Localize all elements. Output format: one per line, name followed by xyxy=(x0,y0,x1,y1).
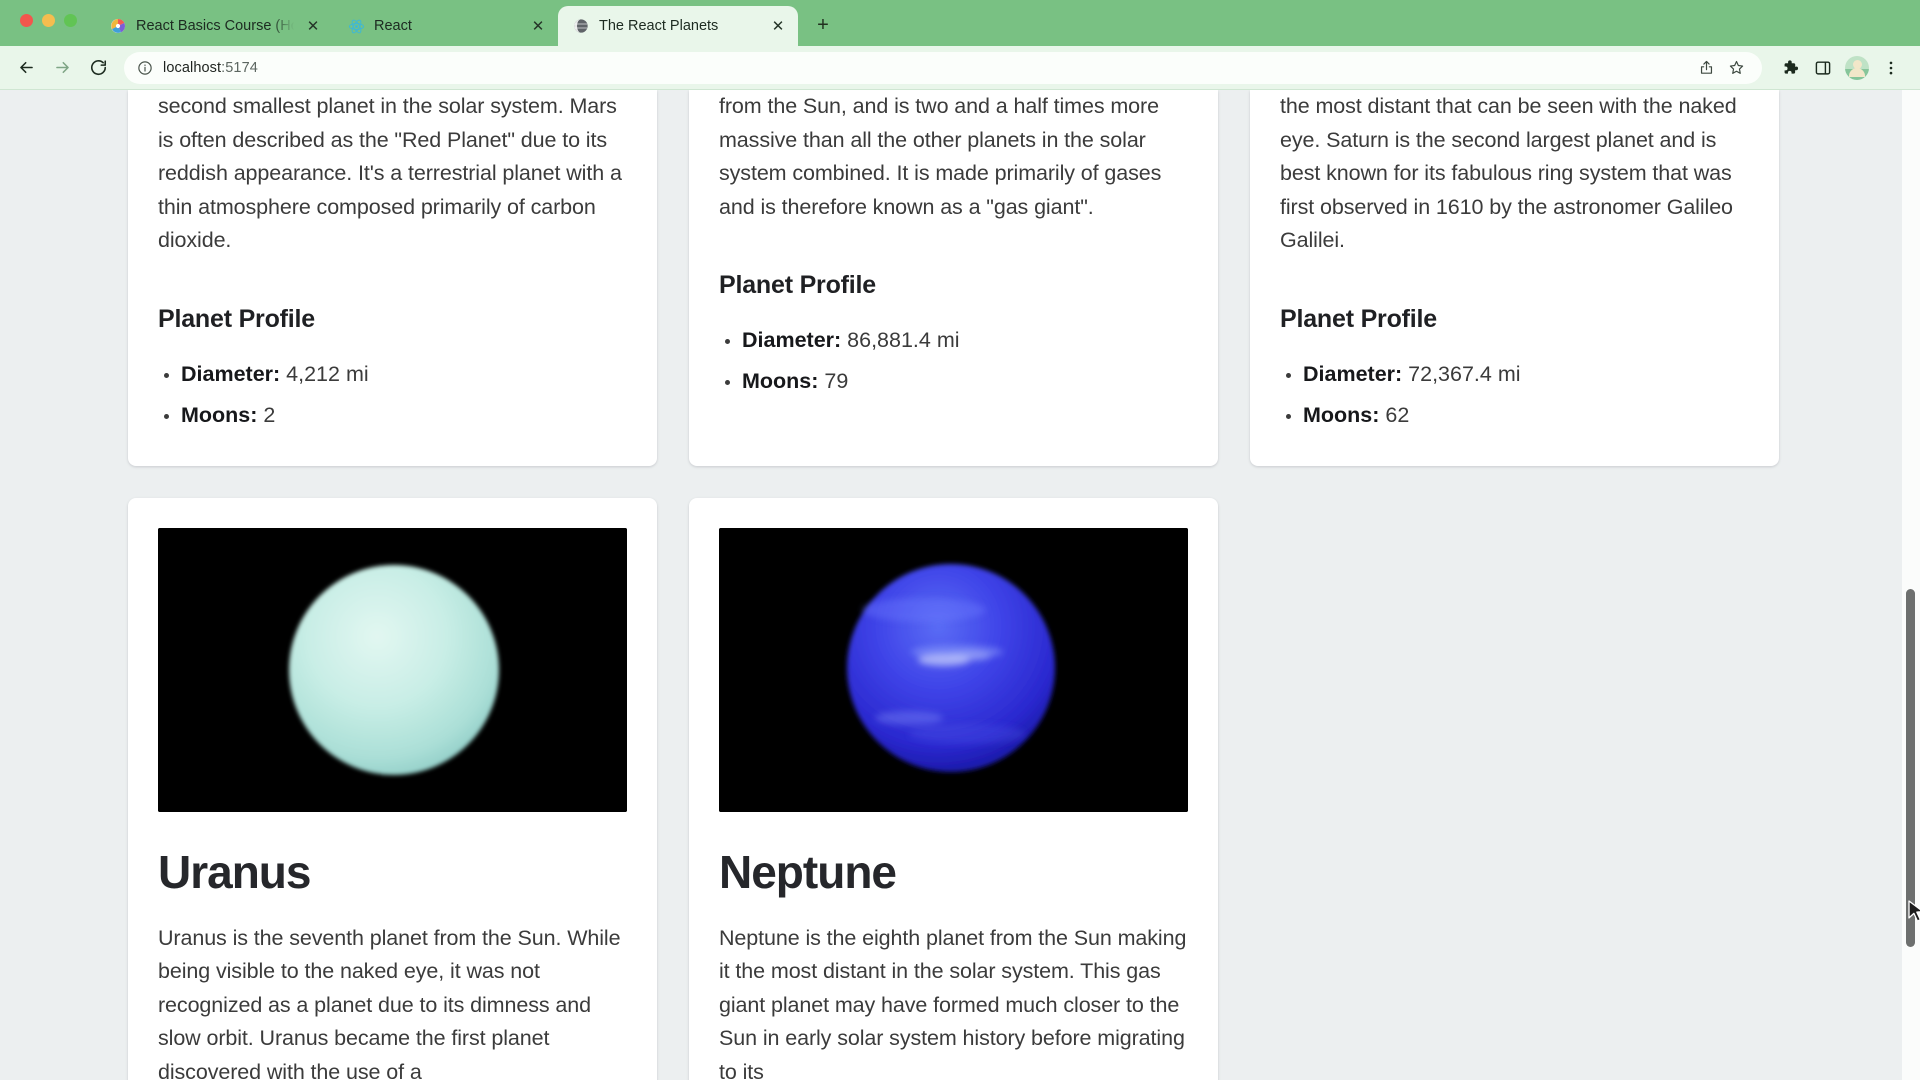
globe-icon xyxy=(572,17,590,35)
share-icon[interactable] xyxy=(1692,54,1720,82)
planet-facts: Diameter: 86,881.4 mi Moons: 79 xyxy=(719,320,1188,402)
window-controls xyxy=(20,14,77,27)
new-tab-button[interactable]: + xyxy=(808,10,838,40)
planet-card-uranus[interactable]: Uranus Uranus is the seventh planet from… xyxy=(128,498,657,1080)
fact-moons: Moons: 79 xyxy=(719,361,1188,402)
planet-profile-heading: Planet Profile xyxy=(719,271,1188,300)
planet-title: Uranus xyxy=(158,845,627,899)
fact-label: Diameter: xyxy=(742,328,841,352)
close-tab-button[interactable]: ✕ xyxy=(768,16,788,36)
browser-toolbar: localhost:5174 xyxy=(0,46,1920,90)
avatar xyxy=(1845,56,1869,80)
planet-card-mars[interactable]: second smallest planet in the solar syst… xyxy=(128,90,657,466)
fact-moons: Moons: 62 xyxy=(1280,395,1749,436)
fact-label: Moons: xyxy=(181,403,257,427)
extensions-puzzle-icon[interactable] xyxy=(1774,53,1804,83)
fact-value: 86,881.4 mi xyxy=(847,328,959,352)
react-course-icon xyxy=(109,17,127,35)
planet-description: the most distant that can be seen with t… xyxy=(1280,90,1749,258)
fact-value: 2 xyxy=(263,403,275,427)
tab-title: React xyxy=(374,18,519,34)
fact-label: Diameter: xyxy=(1303,362,1402,386)
fact-value: 4,212 mi xyxy=(286,362,368,386)
fact-diameter: Diameter: 4,212 mi xyxy=(158,354,627,395)
tab-strip: React Basics Course (How To) ✕ React ✕ xyxy=(0,0,1920,46)
planet-title: Neptune xyxy=(719,845,1188,899)
page-scrollbar[interactable] xyxy=(1902,90,1920,1080)
fact-diameter: Diameter: 86,881.4 mi xyxy=(719,320,1188,361)
planet-profile-heading: Planet Profile xyxy=(158,305,627,334)
planet-profile-heading: Planet Profile xyxy=(1280,305,1749,334)
planet-description: second smallest planet in the solar syst… xyxy=(158,90,627,258)
planet-card-saturn[interactable]: the most distant that can be seen with t… xyxy=(1250,90,1779,466)
scrollbar-thumb[interactable] xyxy=(1906,589,1915,947)
close-tab-button[interactable]: ✕ xyxy=(303,16,323,36)
page-viewport: second smallest planet in the solar syst… xyxy=(0,90,1920,1080)
neptune-photo xyxy=(719,528,1188,812)
tab-title: The React Planets xyxy=(599,18,759,34)
planet-description: Neptune is the eighth planet from the Su… xyxy=(719,922,1188,1080)
omnibox-actions xyxy=(1692,54,1750,82)
react-atom-icon xyxy=(347,17,365,35)
minimize-window-button[interactable] xyxy=(42,14,55,27)
fact-moons: Moons: 2 xyxy=(158,395,627,436)
fact-label: Moons: xyxy=(1303,403,1379,427)
kebab-menu-icon[interactable] xyxy=(1876,53,1906,83)
address-bar[interactable]: localhost:5174 xyxy=(124,52,1762,84)
planets-page: second smallest planet in the solar syst… xyxy=(0,90,1897,1080)
planet-facts: Diameter: 4,212 mi Moons: 2 xyxy=(158,354,627,436)
planet-card-grid: second smallest planet in the solar syst… xyxy=(128,90,1769,1080)
tab-react-basics-course[interactable]: React Basics Course (How To) ✕ xyxy=(95,6,333,46)
fact-label: Diameter: xyxy=(181,362,280,386)
url-text: localhost:5174 xyxy=(163,60,258,76)
side-panel-icon[interactable] xyxy=(1808,53,1838,83)
planet-description: from the Sun, and is two and a half time… xyxy=(719,90,1188,224)
planet-description: Uranus is the seventh planet from the Su… xyxy=(158,922,627,1080)
uranus-photo xyxy=(158,528,627,812)
url-port: :5174 xyxy=(221,60,258,76)
back-button[interactable] xyxy=(10,52,42,84)
browser-window: React Basics Course (How To) ✕ React ✕ xyxy=(0,0,1920,1080)
reload-button[interactable] xyxy=(82,52,114,84)
profile-avatar[interactable] xyxy=(1842,53,1872,83)
zoom-window-button[interactable] xyxy=(64,14,77,27)
info-circle-icon[interactable] xyxy=(136,54,154,82)
fact-value: 79 xyxy=(824,369,848,393)
star-icon[interactable] xyxy=(1722,54,1750,82)
tab-react[interactable]: React ✕ xyxy=(333,6,558,46)
close-window-button[interactable] xyxy=(20,14,33,27)
close-tab-button[interactable]: ✕ xyxy=(528,16,548,36)
tab-list: React Basics Course (How To) ✕ React ✕ xyxy=(95,0,838,46)
fact-value: 62 xyxy=(1385,403,1409,427)
fact-value: 72,367.4 mi xyxy=(1408,362,1520,386)
url-host: localhost xyxy=(163,60,221,76)
fact-diameter: Diameter: 72,367.4 mi xyxy=(1280,354,1749,395)
forward-button[interactable] xyxy=(46,52,78,84)
planet-card-neptune[interactable]: Neptune Neptune is the eighth planet fro… xyxy=(689,498,1218,1080)
tab-the-react-planets[interactable]: The React Planets ✕ xyxy=(558,6,798,46)
fact-label: Moons: xyxy=(742,369,818,393)
planet-facts: Diameter: 72,367.4 mi Moons: 62 xyxy=(1280,354,1749,436)
tab-title: React Basics Course (How To) xyxy=(136,18,294,34)
planet-card-jupiter[interactable]: from the Sun, and is two and a half time… xyxy=(689,90,1218,466)
